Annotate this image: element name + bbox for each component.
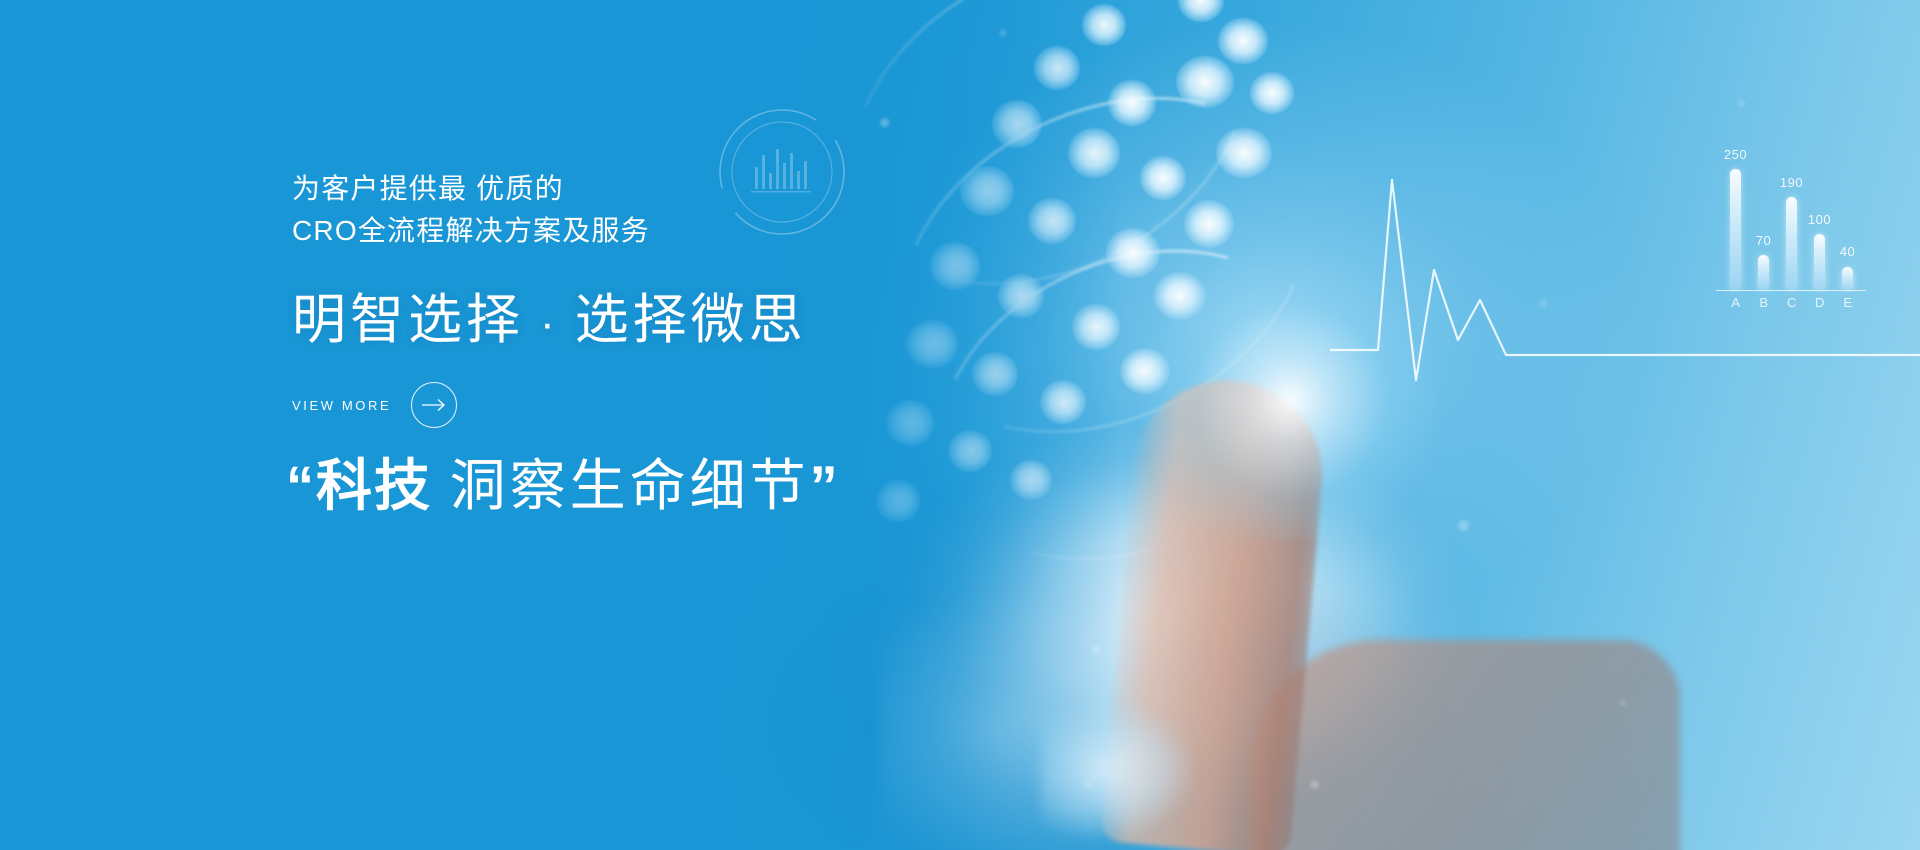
headline-left: 明智选择: [292, 290, 524, 350]
quote-strong: 科技: [316, 454, 432, 517]
bar-value-label: 100: [1808, 212, 1831, 227]
arrow-right-icon[interactable]: [411, 382, 457, 428]
bar-d: [1814, 234, 1825, 289]
bar-c: [1786, 197, 1797, 289]
quote-close-mark: ”: [810, 454, 840, 517]
bokeh-particle: [1458, 520, 1469, 531]
bar-column: 40: [1842, 267, 1853, 289]
subtitle-line-1: 为客户提供最 优质的: [292, 173, 564, 204]
bokeh-particle: [1310, 780, 1319, 789]
bokeh-particle: [1738, 100, 1745, 107]
subtitle-line-2: CRO全流程解决方案及服务: [292, 210, 650, 252]
headline-right: 选择微思: [575, 290, 807, 350]
quote-rest: 洞察生命细节: [450, 454, 810, 517]
chart-plot-area: 250 70 190 100 40: [1716, 164, 1866, 289]
headline-separator: ·: [524, 299, 575, 348]
page-title: 明智选择·选择微思: [292, 275, 807, 354]
hero-banner: 250 70 190 100 40: [0, 0, 1920, 850]
bokeh-particle: [1085, 782, 1091, 788]
hero-subtitle: 为客户提供最 优质的 CRO全流程解决方案及服务: [292, 168, 650, 252]
bar-value-label: 70: [1756, 233, 1771, 248]
bar-column: 100: [1814, 234, 1825, 289]
bar-e: [1842, 267, 1853, 289]
chart-category-labels: A B C D E: [1716, 295, 1866, 313]
bokeh-particle: [1540, 300, 1547, 307]
bar-value-label: 40: [1840, 244, 1855, 259]
bar-column: 190: [1786, 197, 1797, 289]
hand-photo: [1250, 640, 1680, 850]
category-label: B: [1754, 295, 1774, 310]
chart-baseline: [1716, 290, 1866, 291]
hero-content: 为客户提供最 优质的 CRO全流程解决方案及服务 明智选择·选择微思 VIEW …: [292, 0, 1052, 850]
bar-a: [1730, 169, 1741, 289]
bar-value-label: 190: [1780, 175, 1803, 190]
bar-column: 250: [1730, 169, 1741, 289]
bokeh-particle: [1620, 700, 1626, 706]
category-label: A: [1726, 295, 1746, 310]
bokeh-particle: [1092, 646, 1100, 654]
bar-value-label: 250: [1724, 147, 1747, 162]
bar-chart: 250 70 190 100 40: [1716, 155, 1866, 315]
hero-quote: “科技 洞察生命细节”: [286, 455, 840, 517]
view-more-label: VIEW MORE: [292, 398, 391, 413]
quote-open-mark: “: [286, 454, 316, 517]
bar-b: [1758, 255, 1769, 289]
category-label: E: [1838, 295, 1858, 310]
bar-column: 70: [1758, 255, 1769, 289]
category-label: D: [1810, 295, 1830, 310]
view-more-button[interactable]: VIEW MORE: [292, 382, 457, 428]
category-label: C: [1782, 295, 1802, 310]
